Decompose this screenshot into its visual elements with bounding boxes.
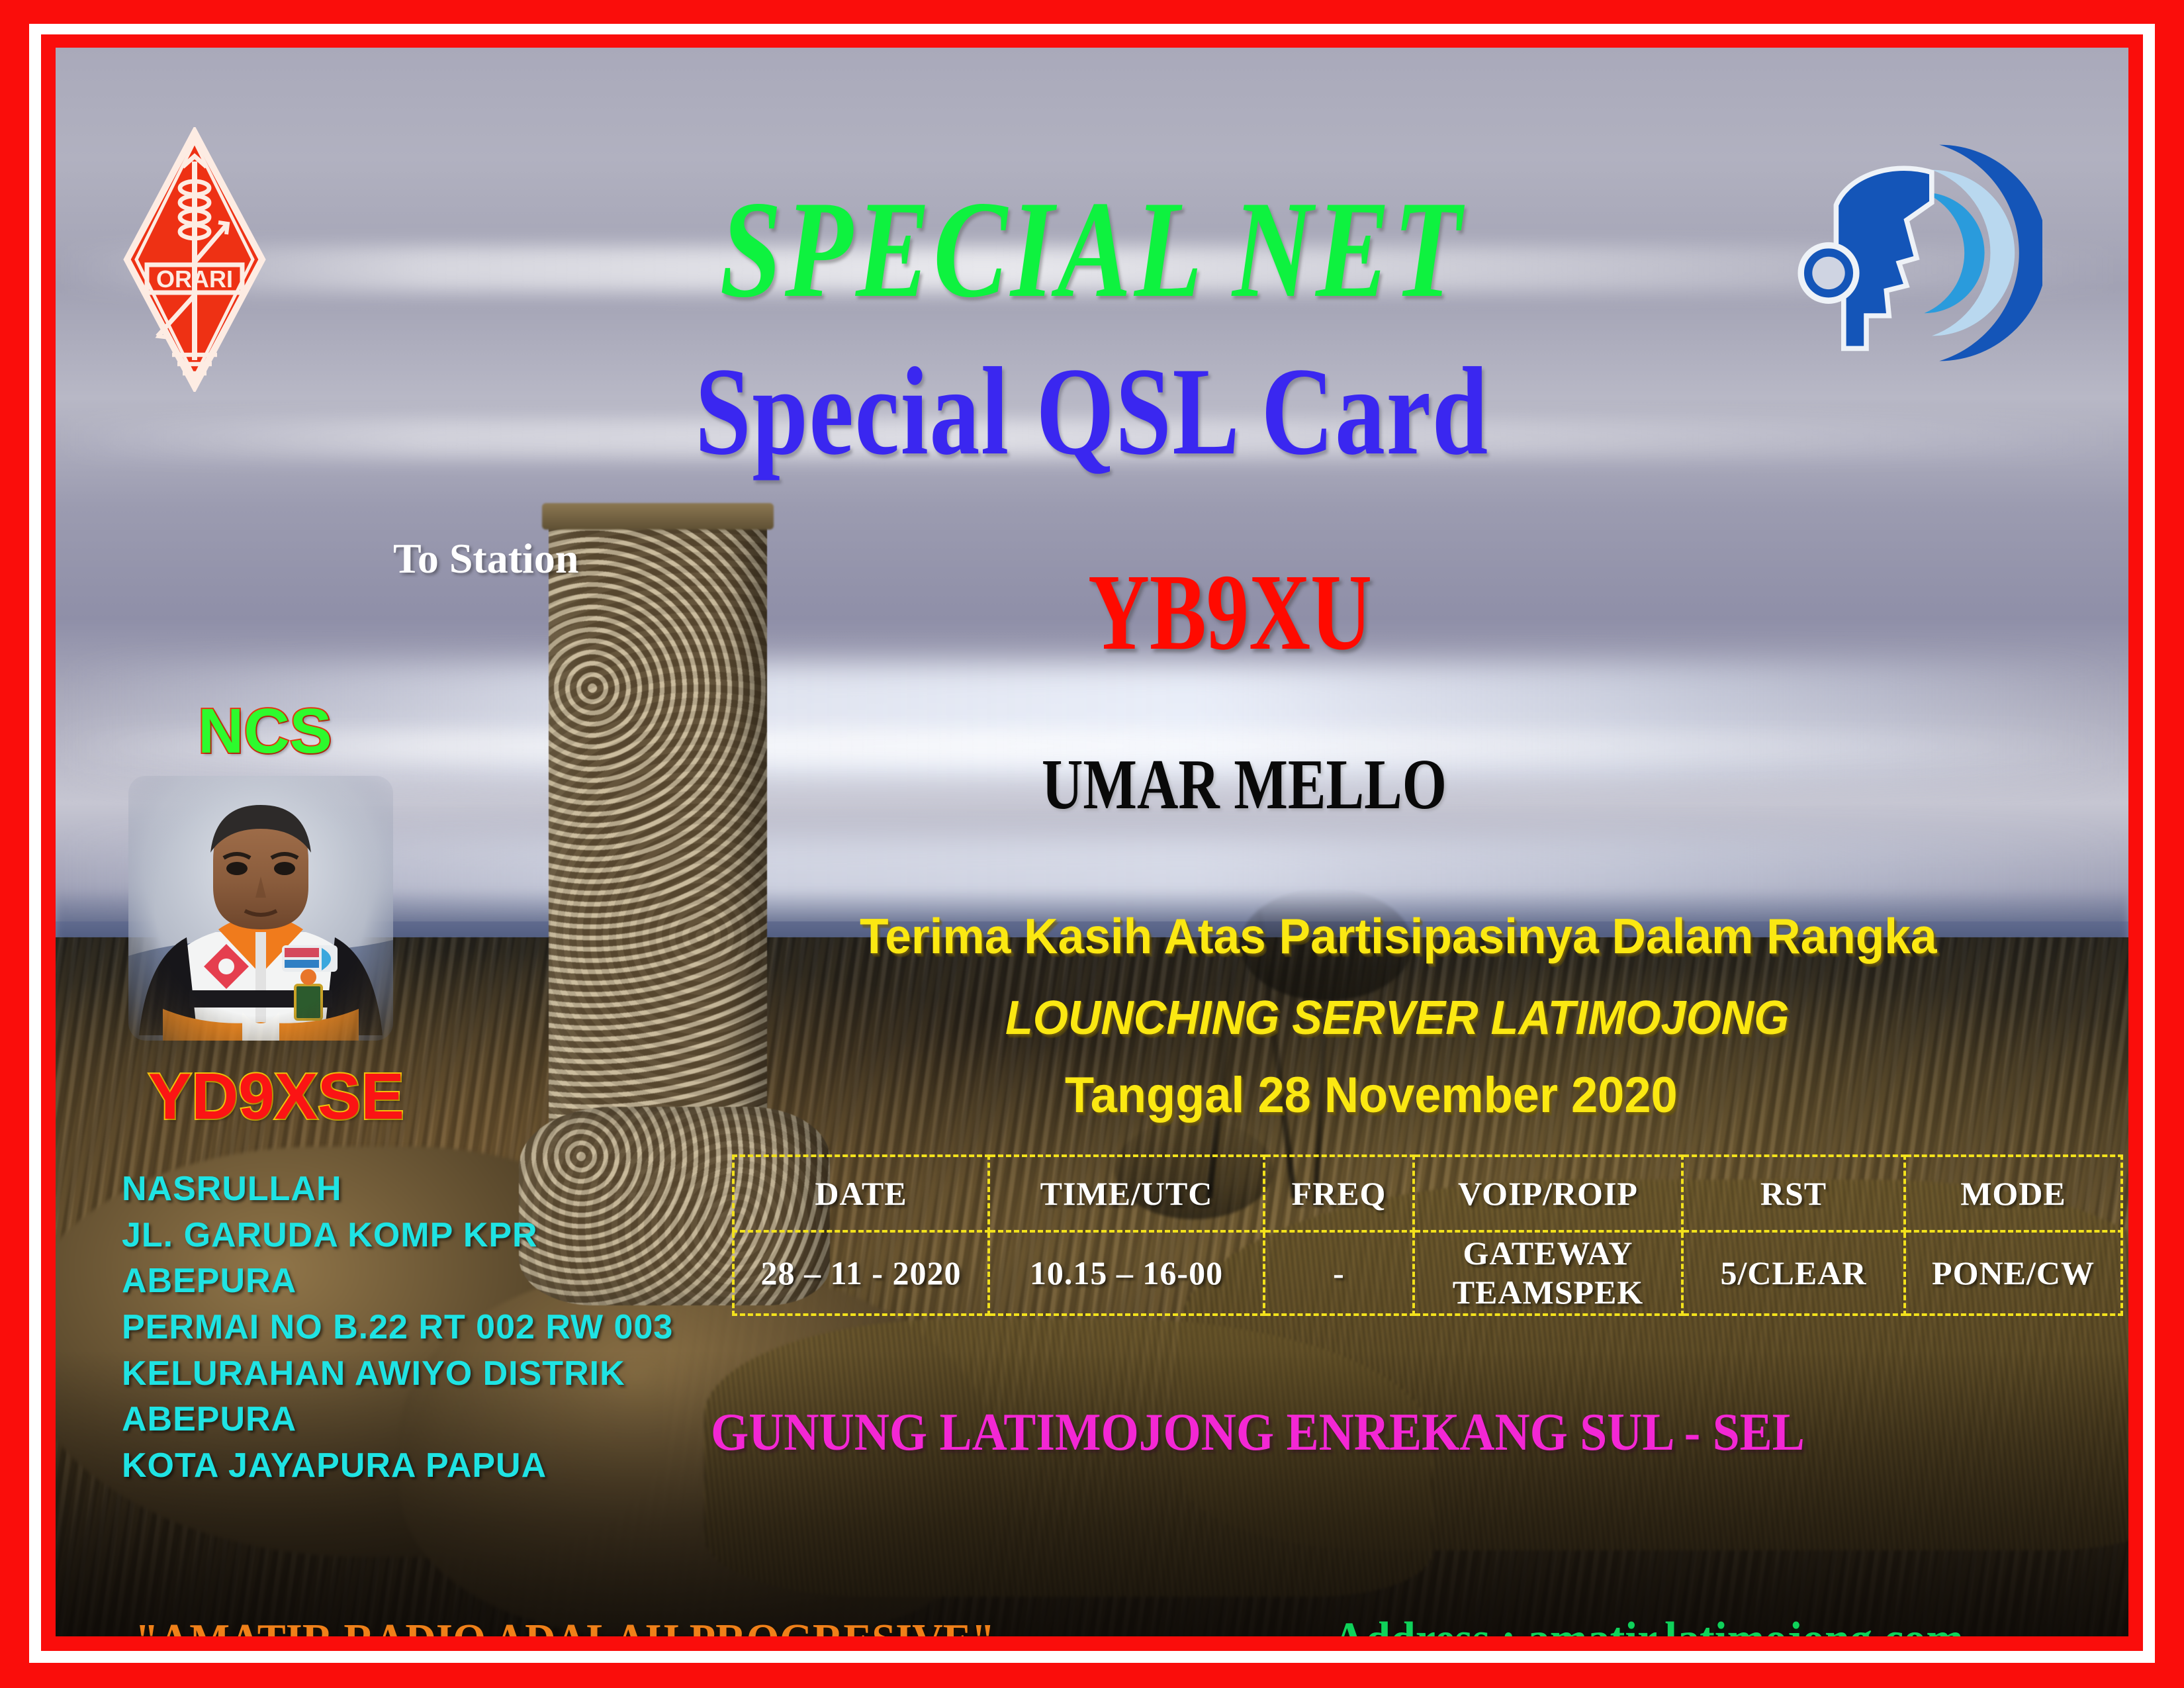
- operator-name: UMAR MELLO: [1042, 749, 1447, 821]
- cell-date: 28 – 11 - 2020: [733, 1231, 989, 1315]
- svg-text:ORARI: ORARI: [156, 265, 233, 293]
- table-row: 28 – 11 - 2020 10.15 – 16-00 - GATEWAY T…: [733, 1231, 2122, 1315]
- thanks-line-2: LOUNCHING SERVER LATIMOJONG: [1005, 994, 1789, 1042]
- station-callsign: YB9XU: [1088, 557, 1372, 667]
- orari-logo: ORARI: [122, 127, 267, 392]
- cell-voip-line1: GATEWAY: [1416, 1234, 1680, 1273]
- qsl-card: ORARI: [0, 0, 2184, 1688]
- cell-voip: GATEWAY TEAMSPEK: [1414, 1231, 1682, 1315]
- thanks-line-1: Terima Kasih Atas Partisipasinya Dalam R…: [860, 912, 1937, 961]
- cell-time: 10.15 – 16-00: [989, 1231, 1264, 1315]
- cell-mode: PONE/CW: [1905, 1231, 2122, 1315]
- column-header-mode: MODE: [1905, 1156, 2122, 1231]
- column-header-date: DATE: [733, 1156, 989, 1231]
- cell-voip-line2: TEAMSPEK: [1416, 1273, 1680, 1312]
- table-header-row: DATE TIME/UTC FREQ VOIP/ROIP RST MODE: [733, 1156, 2122, 1231]
- to-station-label: To Station: [393, 538, 578, 580]
- footer-web-address: Address : amatir.latimojong.com: [1333, 1615, 1964, 1636]
- column-header-time: TIME/UTC: [989, 1156, 1264, 1231]
- ncs-role-label: NCS: [198, 700, 332, 763]
- address-line: ABEPURA: [122, 1397, 673, 1443]
- qso-log-table: DATE TIME/UTC FREQ VOIP/ROIP RST MODE 28…: [732, 1154, 2123, 1316]
- postal-address: NASRULLAH JL. GARUDA KOMP KPR ABEPURA PE…: [122, 1166, 673, 1489]
- headset-radio-logo: [1791, 127, 2042, 379]
- address-line: JL. GARUDA KOMP KPR: [122, 1213, 673, 1259]
- column-header-voip: VOIP/ROIP: [1414, 1156, 1682, 1231]
- column-header-freq: FREQ: [1264, 1156, 1414, 1231]
- ncs-callsign: YD9XSE: [148, 1064, 404, 1129]
- address-line: KELURAHAN AWIYO DISTRIK: [122, 1351, 673, 1397]
- card-inner-red-border: ORARI: [41, 34, 2143, 1651]
- location-caption: GUNUNG LATIMOJONG ENREKANG SUL - SEL: [711, 1406, 1805, 1459]
- address-line: PERMAI NO B.22 RT 002 RW 003: [122, 1305, 673, 1351]
- card-background-photo: ORARI: [56, 48, 2128, 1636]
- thanks-line-3: Tanggal 28 November 2020: [1065, 1070, 1678, 1121]
- column-header-rst: RST: [1682, 1156, 1905, 1231]
- card-white-gap: ORARI: [29, 24, 2155, 1663]
- footer-motto: "AMATIR RADIO ADALAH PROGRESIVE": [135, 1618, 995, 1636]
- address-line: NASRULLAH: [122, 1166, 673, 1213]
- stone-cairn-top: [542, 503, 774, 530]
- cell-rst: 5/CLEAR: [1682, 1231, 1905, 1315]
- address-line: ABEPURA: [122, 1258, 673, 1305]
- address-line: KOTA JAYAPURA PAPUA: [122, 1443, 673, 1489]
- ncs-operator-photo: [128, 776, 393, 1041]
- page-subtitle: Special QSL Card: [695, 349, 1489, 475]
- page-title: SPECIAL NET: [720, 180, 1465, 319]
- cell-freq: -: [1264, 1231, 1414, 1315]
